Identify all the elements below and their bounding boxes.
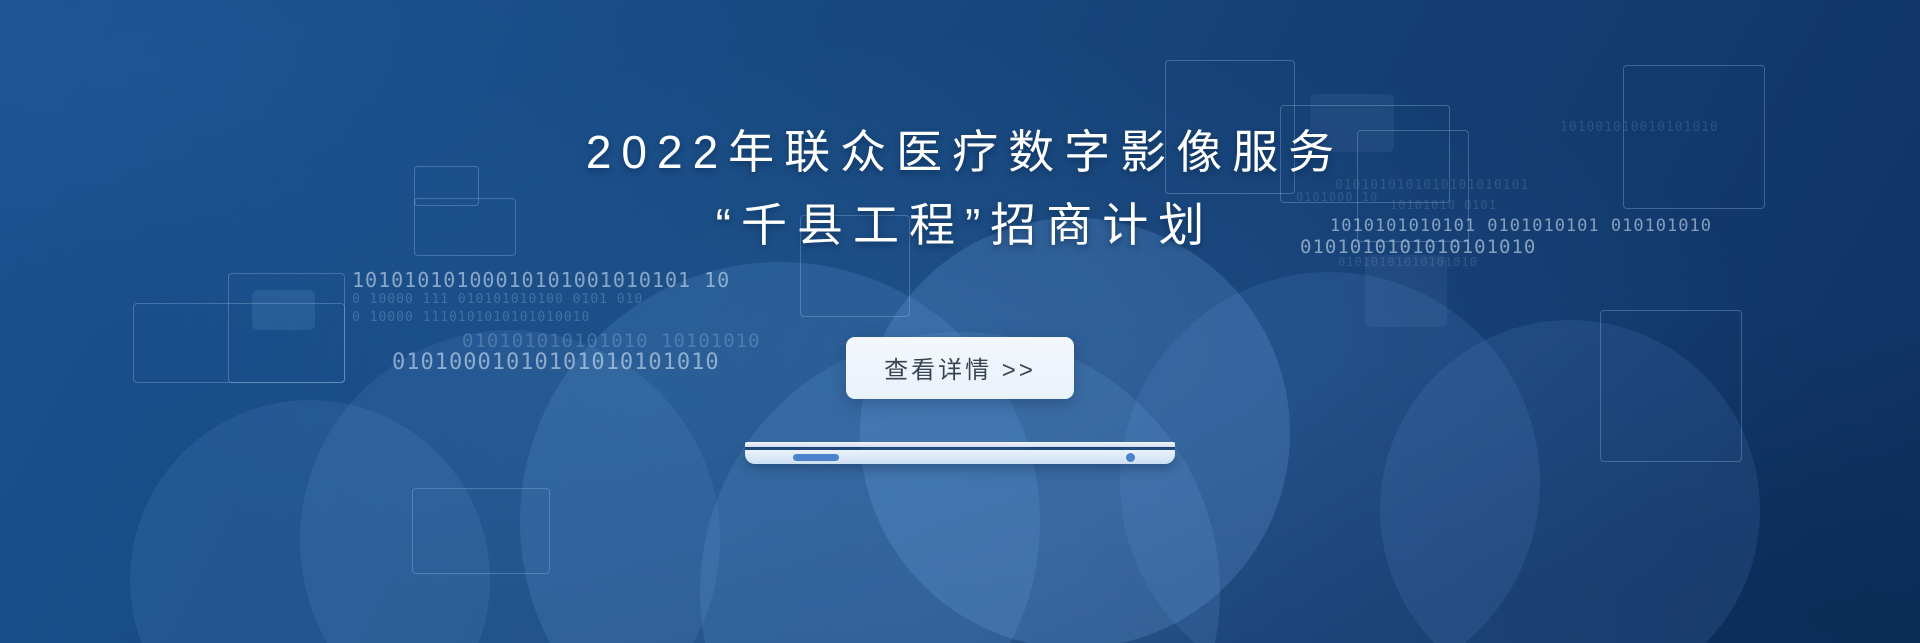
headline-line-2: “千县工程”招商计划 <box>576 189 1344 262</box>
view-details-button[interactable]: 查看详情 >> <box>846 337 1074 399</box>
banner-content: 2022年联众医疗数字影像服务 “千县工程”招商计划 查看详情 >> <box>0 0 1920 643</box>
indicator-dot-icon <box>1126 453 1135 462</box>
banner-headline: 2022年联众医疗数字影像服务 “千县工程”招商计划 <box>576 116 1344 262</box>
camera-notch-icon <box>793 454 839 461</box>
laptop-base-illustration <box>745 442 1175 464</box>
laptop-base-body <box>745 450 1175 464</box>
cta-wrapper: 查看详情 >> <box>846 337 1074 399</box>
promo-banner: 10101010100010101001010101 10 0 10000 11… <box>0 0 1920 643</box>
headline-line-1: 2022年联众医疗数字影像服务 <box>576 116 1344 189</box>
